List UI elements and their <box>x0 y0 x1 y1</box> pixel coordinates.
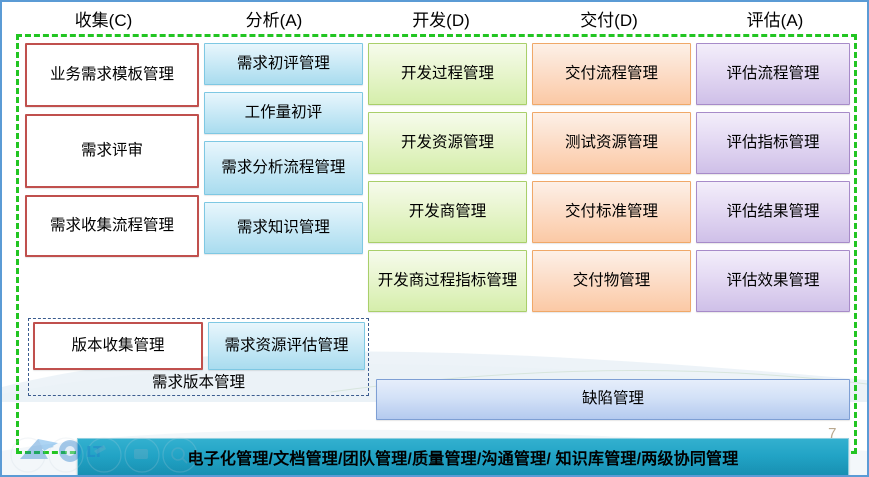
card-assessment-metrics[interactable]: 评估指标管理 <box>696 112 850 174</box>
column-header-develop: 开发(D) <box>357 6 525 36</box>
column-header-analyze: 分析(A) <box>191 6 357 36</box>
card-requirement-resource-assessment[interactable]: 需求资源评估管理 <box>208 322 365 370</box>
card-delivery-standard[interactable]: 交付标准管理 <box>532 181 691 243</box>
column-header-assess: 评估(A) <box>693 6 857 36</box>
card-assessment-effect[interactable]: 评估效果管理 <box>696 250 850 312</box>
column-develop: 开发过程管理 开发资源管理 开发商管理 开发商过程指标管理 <box>368 43 527 373</box>
column-header-deliver: 交付(D) <box>525 6 693 36</box>
card-development-resource[interactable]: 开发资源管理 <box>368 112 527 174</box>
card-deliverable-management[interactable]: 交付物管理 <box>532 250 691 312</box>
requirement-version-group-row: 版本收集管理 需求资源评估管理 <box>33 322 365 370</box>
requirement-version-group: 版本收集管理 需求资源评估管理 需求版本管理 <box>28 318 369 396</box>
card-assessment-process[interactable]: 评估流程管理 <box>696 43 850 105</box>
card-test-resource[interactable]: 测试资源管理 <box>532 112 691 174</box>
column-header-collect: 收集(C) <box>16 6 191 36</box>
card-defect-management[interactable]: 缺陷管理 <box>376 379 850 420</box>
column-header-row: 收集(C) 分析(A) 开发(D) 交付(D) 评估(A) <box>16 6 857 36</box>
card-requirement-review[interactable]: 需求评审 <box>25 114 199 188</box>
card-version-collection[interactable]: 版本收集管理 <box>33 322 203 370</box>
page-number: 7 <box>828 425 837 442</box>
process-board: 业务需求模板管理 需求评审 需求收集流程管理 需求初评管理 工作量初评 需求分析… <box>16 34 857 454</box>
card-workload-initial-estimate[interactable]: 工作量初评 <box>204 92 363 134</box>
column-assess: 评估流程管理 评估指标管理 评估结果管理 评估效果管理 <box>696 43 850 373</box>
card-developer-process-metrics[interactable]: 开发商过程指标管理 <box>368 250 527 312</box>
foundation-banner[interactable]: 电子化管理/文档管理/团队管理/质量管理/沟通管理/ 知识库管理/两级协同管理 <box>77 438 849 476</box>
card-business-requirement-template[interactable]: 业务需求模板管理 <box>25 43 199 107</box>
card-requirement-initial-review[interactable]: 需求初评管理 <box>204 43 363 85</box>
card-delivery-process[interactable]: 交付流程管理 <box>532 43 691 105</box>
card-development-process[interactable]: 开发过程管理 <box>368 43 527 105</box>
requirement-version-group-label: 需求版本管理 <box>29 370 368 392</box>
card-requirement-knowledge[interactable]: 需求知识管理 <box>204 202 363 254</box>
column-deliver: 交付流程管理 测试资源管理 交付标准管理 交付物管理 <box>532 43 691 373</box>
defect-management-bar: 缺陷管理 <box>376 379 850 420</box>
slide-canvas: 收集(C) 分析(A) 开发(D) 交付(D) 评估(A) 业务需求模板管理 需… <box>0 0 869 477</box>
card-requirement-collection-process[interactable]: 需求收集流程管理 <box>25 195 199 257</box>
card-assessment-result[interactable]: 评估结果管理 <box>696 181 850 243</box>
card-requirement-analysis-process[interactable]: 需求分析流程管理 <box>204 141 363 195</box>
card-developer-management[interactable]: 开发商管理 <box>368 181 527 243</box>
